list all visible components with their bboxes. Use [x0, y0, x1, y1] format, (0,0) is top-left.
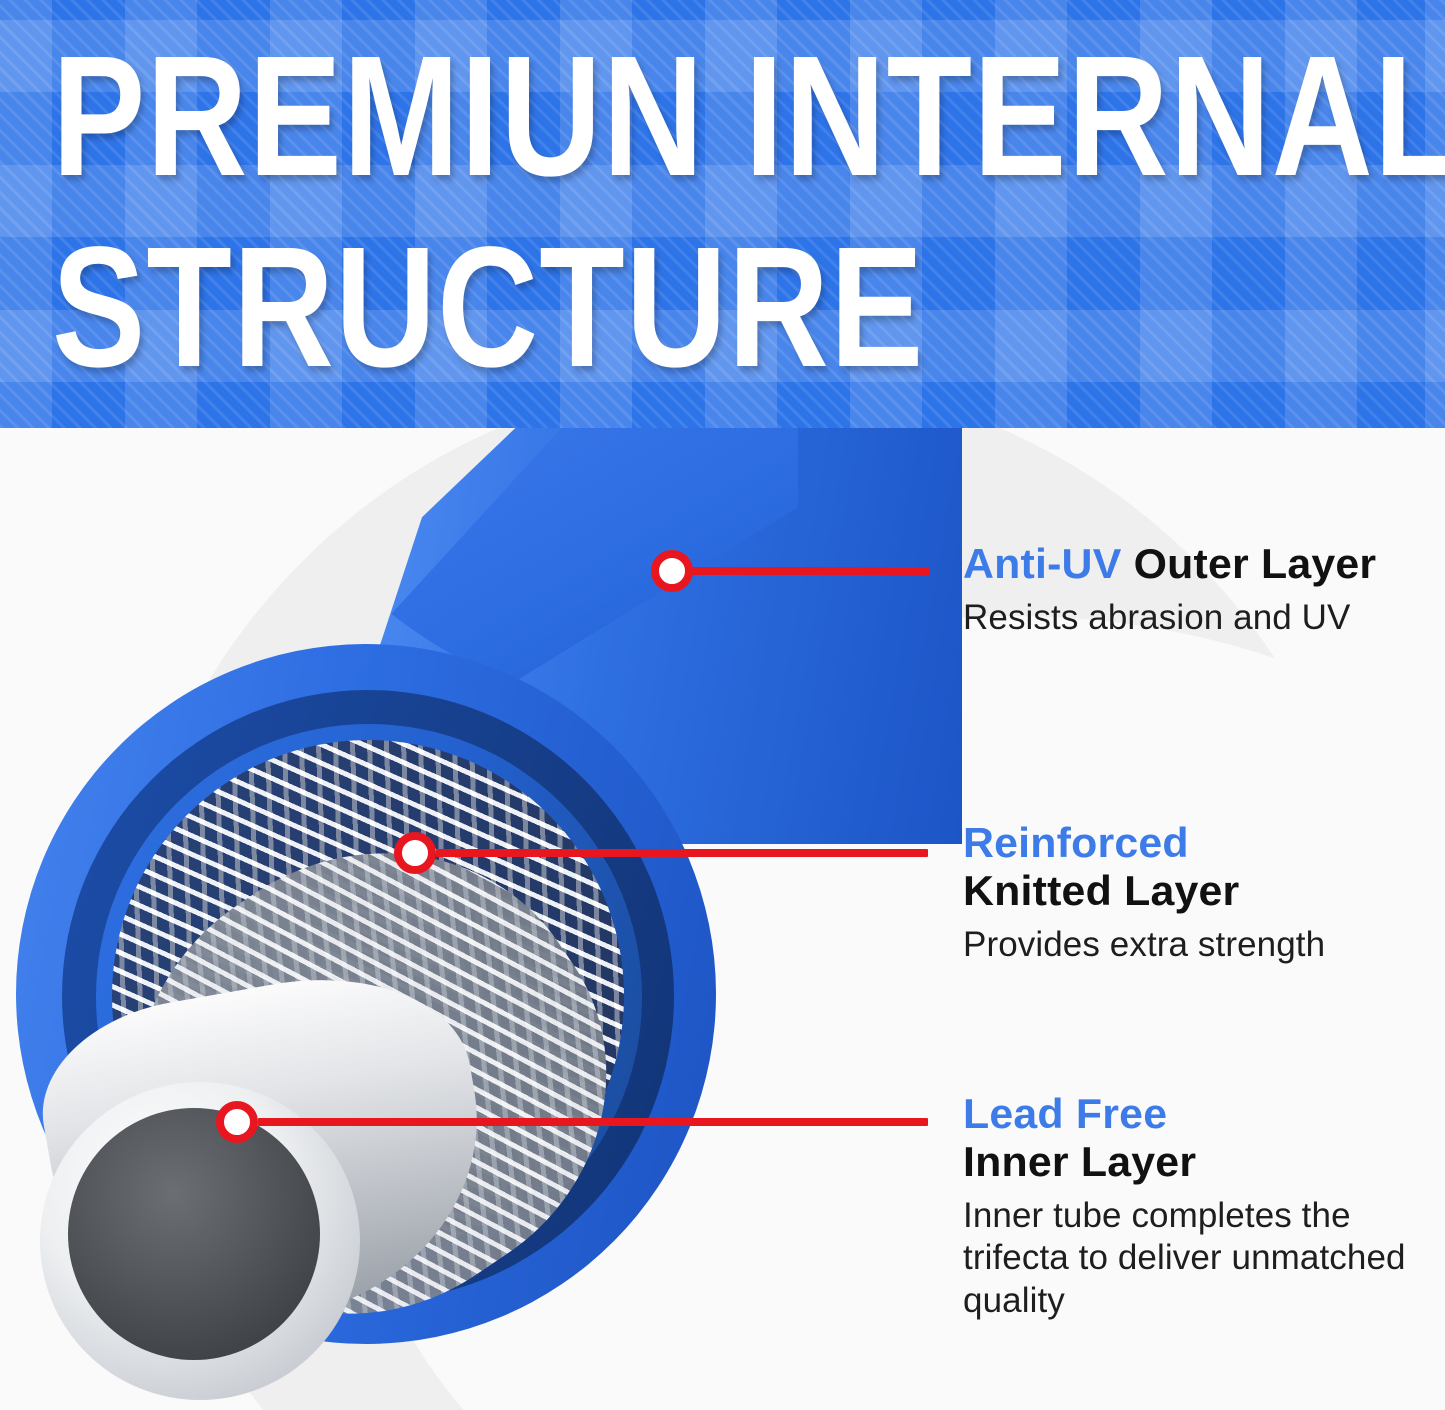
- callout-line-knitted-layer: [436, 849, 928, 857]
- callout-accent-knitted-layer: Reinforced: [963, 819, 1189, 866]
- product-infographic: PREMIUN INTERNAL STRUCTURE A: [0, 0, 1445, 1410]
- callout-description-knitted-layer: Provides extra strength: [963, 924, 1443, 967]
- callout-heading-inner-layer: Lead Free Inner Layer: [963, 1090, 1445, 1186]
- callout-label-inner-layer: Lead Free Inner Layer Inner tube complet…: [963, 1090, 1443, 1323]
- hose-cutaway-illustration: [0, 428, 980, 1410]
- callout-main-knitted-layer: Knitted Layer: [963, 867, 1239, 914]
- callout-label-knitted-layer: Reinforced Knitted Layer Provides extra …: [963, 819, 1443, 966]
- callout-description-outer-layer: Resists abrasion and UV: [963, 597, 1443, 640]
- callout-accent-outer-layer: Anti-UV: [963, 540, 1121, 587]
- callout-line-inner-layer: [258, 1118, 928, 1126]
- callout-dot-inner-layer[interactable]: [216, 1101, 258, 1143]
- title-line-2: STRUCTURE: [52, 223, 1445, 391]
- callout-dot-outer-layer[interactable]: [651, 550, 693, 592]
- callout-dot-knitted-layer[interactable]: [394, 832, 436, 874]
- callout-main-outer-layer: Outer Layer: [1134, 540, 1377, 587]
- product-photo-area: Anti-UV Outer Layer Resists abrasion and…: [0, 428, 1445, 1410]
- callout-description-inner-layer: Inner tube completes the trifecta to del…: [963, 1195, 1443, 1323]
- callout-main-inner-layer: Inner Layer: [963, 1138, 1196, 1185]
- callout-accent-inner-layer: Lead Free: [963, 1090, 1167, 1137]
- callout-heading-outer-layer: Anti-UV Outer Layer: [963, 540, 1445, 588]
- header-banner: PREMIUN INTERNAL STRUCTURE: [0, 0, 1445, 428]
- callout-line-outer-layer: [672, 567, 930, 575]
- callout-heading-knitted-layer: Reinforced Knitted Layer: [963, 819, 1445, 915]
- inner-tube-bore: [68, 1108, 320, 1360]
- callout-label-outer-layer: Anti-UV Outer Layer Resists abrasion and…: [963, 540, 1443, 640]
- title-line-1: PREMIUN INTERNAL: [52, 32, 1445, 200]
- page-title: PREMIUN INTERNAL STRUCTURE: [52, 32, 1412, 353]
